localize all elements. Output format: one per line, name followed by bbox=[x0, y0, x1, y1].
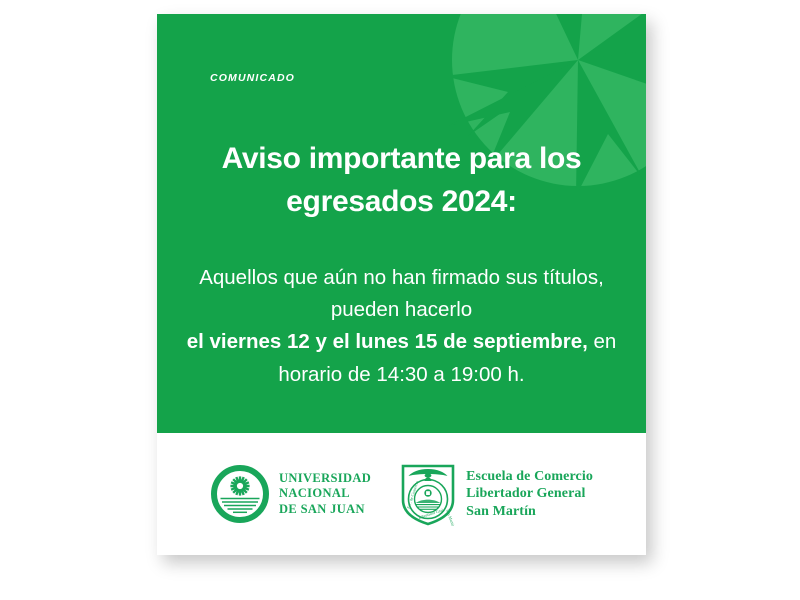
poster-content-area: COMUNICADO Aviso importante para los egr… bbox=[157, 14, 646, 433]
body-line-3-dates: el viernes 12 y el lunes 15 de septiembr… bbox=[187, 330, 588, 353]
unsj-circular-sun-emblem-icon bbox=[210, 464, 270, 524]
body-line-1: Aquellos que aún no han firmado sus títu… bbox=[199, 266, 604, 289]
escuela-logo-text: Escuela de Comercio Libertador General S… bbox=[466, 468, 593, 520]
unsj-logo-text: UNIVERSIDAD NACIONAL DE SAN JUAN bbox=[279, 471, 371, 518]
body-line-3-rest: en bbox=[588, 330, 617, 353]
logo-escuela-de-comercio: Esc. de Comercio Libertador Gral. San Ma… bbox=[399, 462, 593, 526]
body-line-2: pueden hacerlo bbox=[331, 298, 472, 321]
poster-body-copy: Aquellos que aún no han firmado sus títu… bbox=[157, 262, 646, 391]
poster-headline: Aviso importante para los egresados 2024… bbox=[157, 138, 646, 224]
svg-text:San Martín: San Martín bbox=[445, 509, 456, 526]
logo-universidad-nacional-de-san-juan: UNIVERSIDAD NACIONAL DE SAN JUAN bbox=[210, 464, 371, 524]
body-line-4-hours: horario de 14:30 a 19:00 h. bbox=[278, 363, 524, 386]
communication-eyebrow-label: COMUNICADO bbox=[210, 72, 295, 84]
announcement-poster-card: COMUNICADO Aviso importante para los egr… bbox=[157, 14, 646, 555]
poster-footer-logos: UNIVERSIDAD NACIONAL DE SAN JUAN bbox=[157, 433, 646, 555]
escuela-comercio-crest-emblem-icon: Esc. de Comercio Libertador Gral. San Ma… bbox=[399, 462, 457, 526]
